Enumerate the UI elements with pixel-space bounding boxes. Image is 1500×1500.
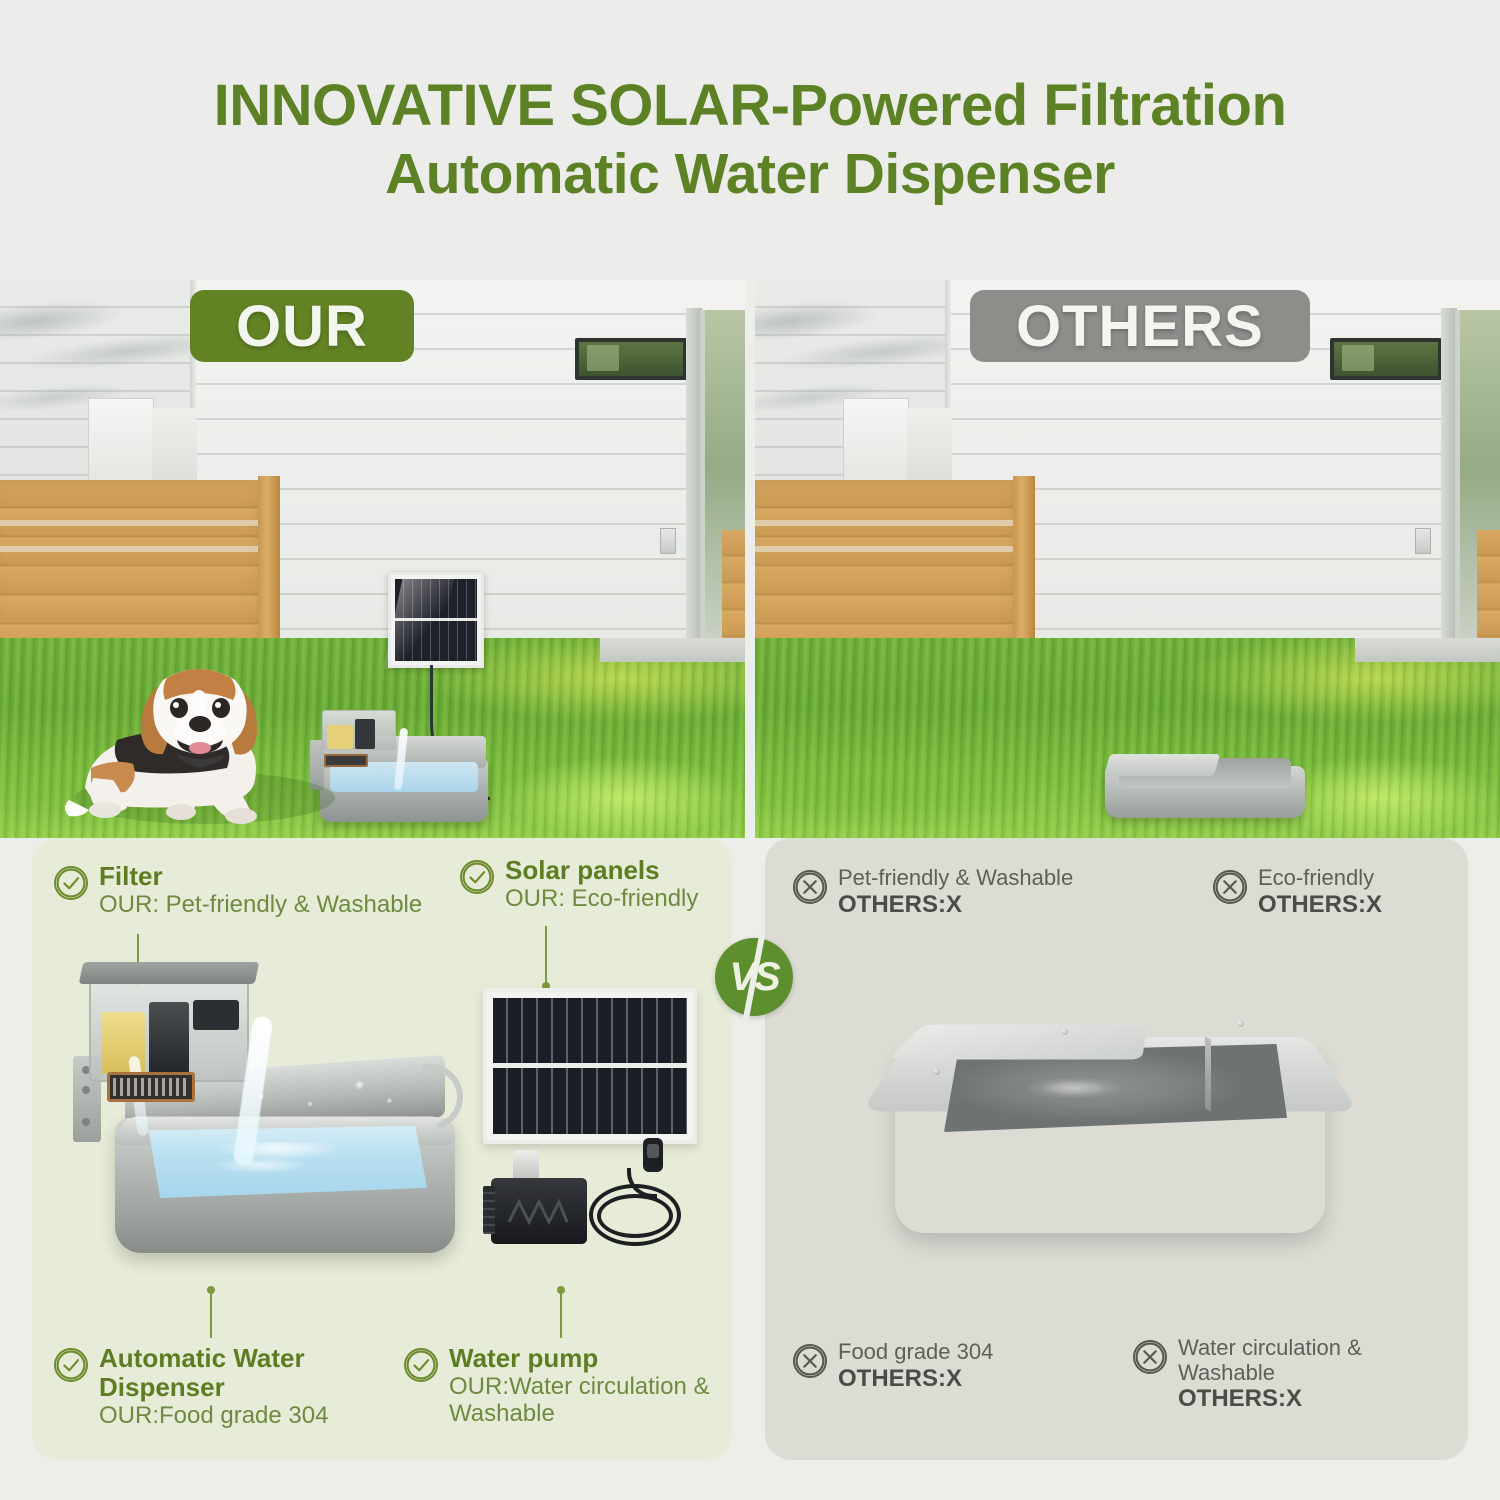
feature-others-food-grade: Food grade 304 OTHERS:X [793, 1340, 993, 1392]
page-header: INNOVATIVE SOLAR-Powered Filtration Auto… [0, 0, 1500, 280]
water-pump [491, 1178, 587, 1244]
page-title-line-1: INNOVATIVE SOLAR-Powered Filtration [214, 72, 1287, 140]
vs-label: VS [729, 955, 778, 1000]
feature-detail: OUR: Pet-friendly & Washable [99, 891, 422, 918]
feature-detail: OTHERS:X [1178, 1385, 1418, 1412]
cross-circle-icon [793, 870, 827, 904]
feature-others-water-circulation: Water circulation & Washable OTHERS:X [1133, 1336, 1418, 1413]
product-automatic-water-dispenser [67, 968, 477, 1268]
feature-title: Eco-friendly [1258, 866, 1382, 891]
comparison-card-others: Pet-friendly & Washable OTHERS:X Eco-fri… [765, 838, 1468, 1460]
feature-our-pump: Water pump OUR:Water circulation & Washa… [404, 1344, 732, 1428]
feature-detail: OUR:Water circulation & Washable [449, 1373, 732, 1428]
wall-window [575, 338, 687, 380]
badge-our: OUR [190, 290, 414, 362]
concrete-walk [600, 638, 745, 662]
page-title-line-2: Automatic Water Dispenser [385, 141, 1115, 208]
screw [933, 1068, 940, 1075]
basin-lid [889, 1025, 1148, 1060]
cross-circle-icon [1133, 1340, 1167, 1374]
cross-circle-icon [793, 1344, 827, 1378]
basin-divider [1205, 1037, 1211, 1112]
check-circle-icon [54, 866, 88, 900]
feature-detail: OUR:Food grade 304 [99, 1402, 349, 1429]
feature-detail: OTHERS:X [838, 1365, 993, 1392]
filter-box [89, 974, 249, 1082]
cross-circle-icon [1213, 870, 1247, 904]
feature-detail: OUR: Eco-friendly [505, 885, 698, 912]
feature-our-filter: Filter OUR: Pet-friendly & Washable [54, 862, 422, 918]
feature-others-eco-friendly: Eco-friendly OTHERS:X [1213, 866, 1382, 918]
feature-title: Water pump [449, 1344, 732, 1373]
feature-title: Pet-friendly & Washable [838, 866, 1073, 891]
screw [1061, 1028, 1068, 1035]
feature-detail: OTHERS:X [838, 891, 1073, 918]
wall-window [1330, 338, 1442, 380]
scene-plain-basin [1105, 748, 1305, 818]
feature-our-dispenser: Automatic Water Dispenser OUR:Food grade… [54, 1344, 349, 1430]
feature-comparison-section: Filter OUR: Pet-friendly & Washable Sola… [0, 838, 1500, 1500]
check-circle-icon [54, 1348, 88, 1382]
feature-title: Solar panels [505, 856, 698, 885]
wall-solar-panel [388, 572, 484, 668]
product-plain-basin [875, 988, 1345, 1278]
check-circle-icon [404, 1348, 438, 1382]
scene-photo-our: OUR [0, 280, 745, 838]
badge-others: OTHERS [970, 290, 1310, 362]
check-circle-icon [460, 860, 494, 894]
wall-utility-box [660, 528, 676, 554]
connector-dispenser [210, 1290, 212, 1338]
comparison-card-our: Filter OUR: Pet-friendly & Washable Sola… [32, 838, 732, 1460]
beagle-dog [55, 628, 355, 838]
connector-solar [545, 926, 547, 986]
brand-plate [107, 1072, 195, 1102]
concrete-walk [1355, 638, 1500, 662]
feature-title: Filter [99, 862, 422, 891]
feature-others-pet-friendly: Pet-friendly & Washable OTHERS:X [793, 866, 1073, 918]
solar-panel [483, 988, 697, 1144]
vs-badge: VS [715, 938, 793, 1016]
product-solar-panel-and-pump [467, 988, 717, 1288]
scene-photo-others: OTHERS [755, 280, 1500, 838]
power-plug [643, 1138, 663, 1172]
screw [1237, 1020, 1244, 1027]
connector-pump [560, 1290, 562, 1338]
scene-comparison-strip: OUR OTHERS [0, 280, 1500, 838]
feature-title: Food grade 304 [838, 1340, 993, 1365]
feature-title: Automatic Water Dispenser [99, 1344, 349, 1402]
feature-our-solar: Solar panels OUR: Eco-friendly [460, 856, 698, 912]
feature-title: Water circulation & Washable [1178, 1336, 1418, 1385]
wall-utility-box [1415, 528, 1431, 554]
coiled-cable-inner [597, 1194, 673, 1238]
feature-detail: OTHERS:X [1258, 891, 1382, 918]
filter-lid [79, 962, 260, 984]
